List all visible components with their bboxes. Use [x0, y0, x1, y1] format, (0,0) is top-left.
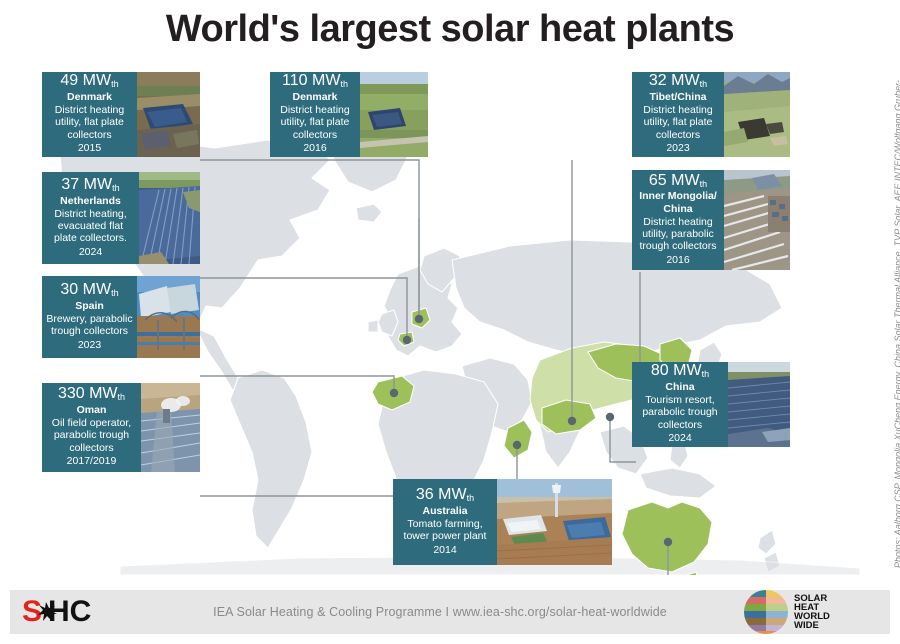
- card-text-panel: 110 MWth Denmark District heating utilit…: [270, 72, 360, 157]
- card-description: District heating utility, parabolic trou…: [636, 216, 720, 253]
- card-text-panel: 37 MWth Netherlands District heating, ev…: [42, 172, 139, 264]
- card-year: 2016: [666, 254, 689, 267]
- plant-card-denmark-110[interactable]: 110 MWth Denmark District heating utilit…: [270, 72, 428, 157]
- plant-card-australia-36[interactable]: 36 MWth Australia Tomato farming, tower …: [393, 479, 612, 565]
- card-text-panel: 330 MWth Oman Oil field operator, parabo…: [42, 383, 141, 472]
- card-country: Netherlands: [60, 195, 121, 207]
- card-year: 2024: [668, 432, 691, 445]
- photo-credits: Photos: Aalborg CSP, Mongolia XuCheng En…: [872, 60, 898, 570]
- shww-logo-svg: SOLAR HEAT WORLD WIDE: [742, 588, 862, 636]
- capacity-subscript: th: [702, 369, 710, 379]
- card-country: Tibet/China: [650, 91, 707, 103]
- card-year: 2016: [303, 142, 326, 155]
- plant-card-inner-mongolia-65[interactable]: 65 MWth Inner Mongolia/ China District h…: [632, 170, 790, 270]
- capacity-subscript: th: [111, 79, 119, 89]
- card-year: 2023: [78, 339, 101, 352]
- card-photo-aerial-flat-plate-collector-field: [137, 72, 200, 157]
- card-description: District heating utility, flat plate col…: [636, 104, 720, 141]
- capacity-subscript: th: [111, 288, 119, 298]
- capacity-subscript: th: [118, 392, 126, 402]
- card-photo-aerial-trough-rows-village: [724, 170, 790, 270]
- card-country: Australia: [423, 505, 468, 517]
- card-text-panel: 65 MWth Inner Mongolia/ China District h…: [632, 170, 724, 270]
- plant-card-netherlands-37[interactable]: 37 MWth Netherlands District heating, ev…: [42, 172, 200, 264]
- card-description: Oil field operator, parabolic trough col…: [46, 417, 137, 454]
- card-capacity: 49 MWth: [60, 73, 118, 90]
- card-description: Tomato farming, tower power plant: [397, 518, 493, 543]
- card-country: Oman: [77, 404, 107, 416]
- card-photo-aerial-large-collector-field-lake: [728, 362, 790, 447]
- capacity-subscript: th: [700, 179, 708, 189]
- plant-card-tibet-32[interactable]: 32 MWth Tibet/China District heating uti…: [632, 72, 790, 157]
- capacity-subscript: th: [340, 79, 348, 89]
- shww-line-4: WIDE: [794, 620, 819, 631]
- card-country: Inner Mongolia/ China: [636, 190, 720, 214]
- card-capacity: 80 MWth: [651, 363, 709, 380]
- card-country: Spain: [75, 300, 104, 312]
- plant-card-denmark-49[interactable]: 49 MWth Denmark District heating utility…: [42, 72, 200, 157]
- card-photo-aerial-green-fields-collector-array: [360, 72, 428, 157]
- card-year: 2023: [666, 142, 689, 155]
- card-text-panel: 30 MWth Spain Brewery, parabolic trough …: [42, 276, 137, 358]
- plant-card-oman-330[interactable]: 330 MWth Oman Oil field operator, parabo…: [42, 383, 200, 472]
- card-text-panel: 36 MWth Australia Tomato farming, tower …: [393, 479, 497, 565]
- card-description: Tourism resort, parabolic trough collect…: [636, 394, 724, 431]
- card-description: District heating utility, flat plate col…: [46, 104, 133, 141]
- card-capacity: 32 MWth: [649, 73, 707, 90]
- capacity-subscript: th: [112, 183, 120, 193]
- card-year: 2014: [433, 544, 456, 557]
- card-photo-aerial-blue-collector-rows: [139, 172, 200, 264]
- page-title: World's largest solar heat plants: [0, 8, 900, 51]
- card-year: 2015: [78, 142, 101, 155]
- card-year: 2024: [79, 246, 102, 259]
- footer: S HC IEA Solar Heating & Cooling Program…: [0, 580, 900, 644]
- solar-heat-worldwide-logo[interactable]: SOLAR HEAT WORLD WIDE: [742, 588, 862, 636]
- card-capacity: 110 MWth: [282, 73, 348, 90]
- plant-card-china-80[interactable]: 80 MWth China Tourism resort, parabolic …: [632, 362, 790, 447]
- card-year: 2017/2019: [67, 455, 117, 468]
- card-text-panel: 49 MWth Denmark District heating utility…: [42, 72, 137, 157]
- card-capacity: 37 MWth: [61, 177, 119, 194]
- shww-globe-stripes: [744, 590, 788, 636]
- card-photo-mountain-valley-collector-field: [724, 72, 790, 157]
- card-description: District heating, evacuated flat plate c…: [46, 208, 135, 245]
- card-country: Denmark: [293, 91, 338, 103]
- card-description: District heating utility, flat plate col…: [274, 104, 356, 141]
- card-capacity: 36 MWth: [416, 487, 474, 504]
- capacity-subscript: th: [700, 79, 708, 89]
- card-country: Denmark: [67, 91, 112, 103]
- card-photo-desert-solar-tower-heliostats: [497, 479, 612, 565]
- card-capacity: 330 MWth: [58, 386, 125, 403]
- country-tibet: [542, 400, 596, 434]
- card-photo-parabolic-trough-mirrors-blue-sky: [137, 276, 200, 358]
- card-capacity: 65 MWth: [649, 173, 707, 190]
- capacity-subscript: th: [467, 493, 475, 503]
- card-photo-desert-glasshouse-trough-plant-steam: [141, 383, 200, 472]
- card-description: Brewery, parabolic trough collectors: [46, 313, 133, 338]
- photo-credits-text: Photos: Aalborg CSP, Mongolia XuCheng En…: [892, 60, 900, 568]
- card-text-panel: 80 MWth China Tourism resort, parabolic …: [632, 362, 728, 447]
- card-capacity: 30 MWth: [60, 282, 118, 299]
- card-text-panel: 32 MWth Tibet/China District heating uti…: [632, 72, 724, 157]
- plant-card-spain-30[interactable]: 30 MWth Spain Brewery, parabolic trough …: [42, 276, 200, 358]
- card-country: China: [665, 381, 694, 393]
